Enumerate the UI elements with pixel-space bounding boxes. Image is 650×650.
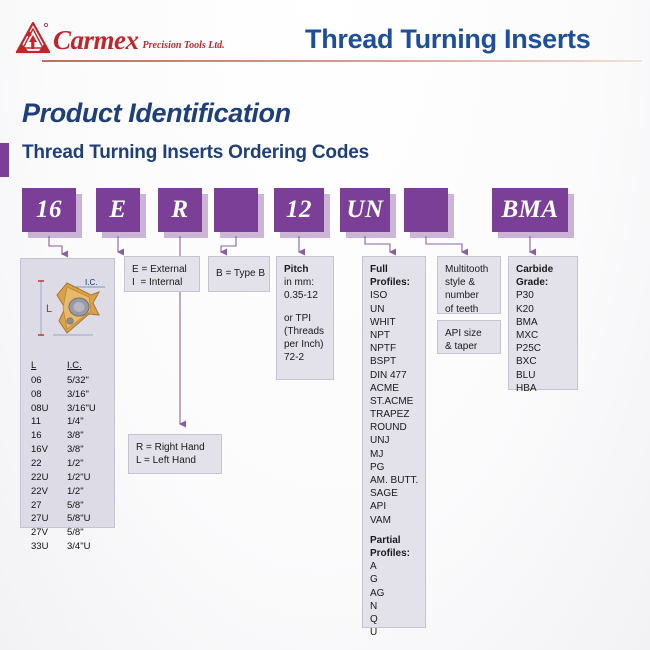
full-profile-item: UN [370,303,418,316]
full-profiles-title-1: Full [370,263,418,276]
dimension-ic-value: 3/16" [67,388,116,402]
partial-profile-item: U [370,626,418,639]
multitooth-line1: Multitooth [445,263,493,276]
dimension-row: 163/8" [21,429,116,443]
dimension-row: 27V5/8" [21,526,116,540]
insert-dimension-panel: L I.C. L I.C. 065/32"083/16"08U3/16"U111… [20,258,115,528]
dimension-l-value: 22 [21,457,67,471]
brand-name: Carmex [53,27,139,54]
dimension-ic-value: 5/8" [67,499,116,513]
dimension-table: L I.C. 065/32"083/16"08U3/16"U111/4"163/… [21,359,116,554]
code-box-5[interactable]: 12 [274,188,324,232]
full-profile-item: TRAPEZ [370,408,418,421]
callout-carbide-grade: Carbide Grade: P30K20BMAMXCP25CBXCBLUHBA [508,256,578,390]
dimension-l-value: 27 [21,499,67,513]
full-profile-item: UNJ [370,434,418,447]
dimension-l-value: 16V [21,443,67,457]
full-profile-item: WHIT [370,316,418,329]
partial-profiles-title-1: Partial [370,534,418,547]
dimension-ic-value: 1/2"U [67,471,116,485]
svg-text:L: L [46,303,52,315]
dimension-row: 16V3/8" [21,443,116,457]
dimension-row: 275/8" [21,499,116,513]
full-profile-item: ST.ACME [370,395,418,408]
partial-profiles-list: AGAGNQU [370,560,418,639]
code-box-2[interactable]: E [96,188,140,232]
brand-logo: Carmex Precision Tools Ltd. [16,22,225,54]
dimension-ic-value: 3/8" [67,443,116,457]
full-profile-item: AM. BUTT. [370,474,418,487]
partial-profile-item: G [370,573,418,586]
right-hand-line: R = Right Hand [136,441,214,454]
full-profile-item: ROUND [370,421,418,434]
full-profile-item: VAM [370,514,418,527]
pitch-range-mm: 0.35-12 [284,289,326,302]
pitch-tpi-label: or TPI [284,312,326,325]
code-box-4[interactable] [214,188,258,232]
code-box-1[interactable]: 16 [22,188,76,232]
grade-list: P30K20BMAMXCP25CBXCBLUHBA [516,289,570,395]
pitch-tpi-desc1: (Threads [284,325,326,338]
page-header: Carmex Precision Tools Ltd. Thread Turni… [0,0,650,72]
internal-line: I = Internal [132,276,192,289]
accent-bar [0,143,9,177]
dimension-l-value: 27V [21,526,67,540]
grade-item: BLU [516,369,570,382]
dimension-ic-value: 5/8" [67,526,116,540]
carmex-triangle-logo-icon [16,22,50,54]
dimension-ic-value: 3/4"U [67,540,116,554]
pitch-unit: in mm: [284,276,326,289]
grade-item: BXC [516,355,570,368]
dimension-row: 22U1/2"U [21,471,116,485]
dimension-l-value: 16 [21,429,67,443]
dimension-ic-value: 3/8" [67,429,116,443]
dimension-row: 33U3/4"U [21,540,116,554]
partial-profile-item: AG [370,587,418,600]
dimension-row: 22V1/2" [21,485,116,499]
callout-profiles: Full Profiles: ISOUNWHITNPTNPTFBSPTDIN 4… [362,256,426,628]
full-profile-item: ISO [370,289,418,302]
dimension-ic-value: 5/32" [67,374,116,388]
dimension-row: 083/16" [21,388,116,402]
code-box-6[interactable]: UN [340,188,390,232]
full-profile-item: ACME [370,382,418,395]
callout-multitooth: Multitooth style & number of teeth [437,256,501,314]
callout-hand-direction: R = Right Hand L = Left Hand [128,434,222,474]
dimension-l-value: 06 [21,374,67,388]
dimension-l-value: 08U [21,402,67,416]
code-box-3[interactable]: R [158,188,202,232]
dimension-l-value: 08 [21,388,67,402]
dim-header-ic: I.C. [67,360,82,371]
grade-item: HBA [516,382,570,395]
brand-tagline: Precision Tools Ltd. [143,40,225,54]
callout-pitch: Pitch in mm: 0.35-12 or TPI (Threads per… [276,256,334,380]
callout-external-internal: E = External I = Internal [124,256,200,292]
dimension-ic-value: 1/2" [67,457,116,471]
grade-item: MXC [516,329,570,342]
full-profiles-list: ISOUNWHITNPTNPTFBSPTDIN 477ACMEST.ACMETR… [370,289,418,526]
dimension-row: 27U5/8"U [21,512,116,526]
grade-item: P25C [516,342,570,355]
dimension-l-value: 22U [21,471,67,485]
grade-item: BMA [516,316,570,329]
api-line2: & taper [445,340,493,353]
dimension-ic-value: 1/2" [67,485,116,499]
svg-text:I.C.: I.C. [85,278,97,287]
header-divider [42,60,642,62]
page-title: Product Identification [22,98,291,129]
full-profile-item: MJ [370,448,418,461]
full-profile-item: NPTF [370,342,418,355]
api-line1: API size [445,327,493,340]
dimension-row: 111/4" [21,415,116,429]
grade-title-1: Carbide [516,263,570,276]
multitooth-line2: style & [445,276,493,289]
dimension-row: 065/32" [21,374,116,388]
full-profiles-title-2: Profiles: [370,276,418,289]
page-subtitle: Thread Turning Inserts Ordering Codes [22,142,369,164]
dimension-l-value: 11 [21,415,67,429]
dimension-l-value: 33U [21,540,67,554]
code-box-8[interactable]: BMA [492,188,568,232]
dim-header-l: L [31,360,36,371]
full-profile-item: BSPT [370,355,418,368]
type-b-line: B = Type B [216,267,265,280]
dimension-ic-value: 3/16"U [67,402,116,416]
pitch-range-tpi: 72-2 [284,351,326,364]
partial-profile-item: N [370,600,418,613]
left-hand-line: L = Left Hand [136,454,214,467]
pitch-title: Pitch [284,263,326,276]
dimension-row: 08U3/16"U [21,402,116,416]
dimension-l-value: 22V [21,485,67,499]
external-line: E = External [132,263,192,276]
full-profile-item: API [370,500,418,513]
callout-type-b: B = Type B [208,256,270,292]
full-profile-item: DIN 477 [370,369,418,382]
multitooth-line4: of teeth [445,303,493,316]
partial-profile-item: Q [370,613,418,626]
code-box-7[interactable] [404,188,448,232]
callout-api-size: API size & taper [437,320,501,354]
pitch-tpi-desc2: per Inch) [284,338,326,351]
partial-profiles-title-2: Profiles: [370,547,418,560]
dimension-table-header: L I.C. [21,359,116,374]
grade-item: P30 [516,289,570,302]
threading-insert-icon: L I.C. [21,259,116,357]
pitch-spacer [284,303,326,312]
full-profile-item: PG [370,461,418,474]
full-profile-item: SAGE [370,487,418,500]
dimension-ic-value: 5/8"U [67,512,116,526]
full-profile-item: NPT [370,329,418,342]
header-title: Thread Turning Inserts [305,24,590,55]
multitooth-line3: number [445,289,493,302]
dimension-row: 221/2" [21,457,116,471]
grade-item: K20 [516,303,570,316]
dimension-ic-value: 1/4" [67,415,116,429]
partial-profile-item: A [370,560,418,573]
dimension-l-value: 27U [21,512,67,526]
grade-title-2: Grade: [516,276,570,289]
